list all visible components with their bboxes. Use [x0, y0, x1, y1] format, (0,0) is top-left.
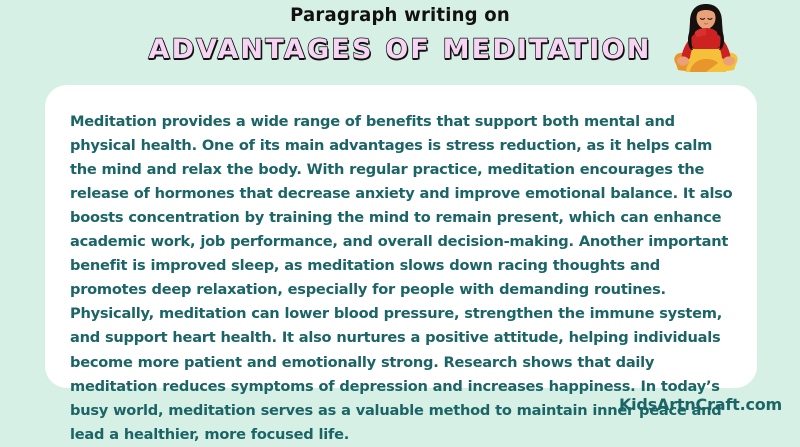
meditating-woman-icon — [660, 2, 752, 86]
paragraph-card: Meditation provides a wide range of bene… — [45, 85, 757, 388]
poster-root: Paragraph writing on ADVANTAGES OF MEDIT… — [0, 0, 800, 420]
brand-watermark: KidsArtnCraft.com — [619, 395, 782, 414]
